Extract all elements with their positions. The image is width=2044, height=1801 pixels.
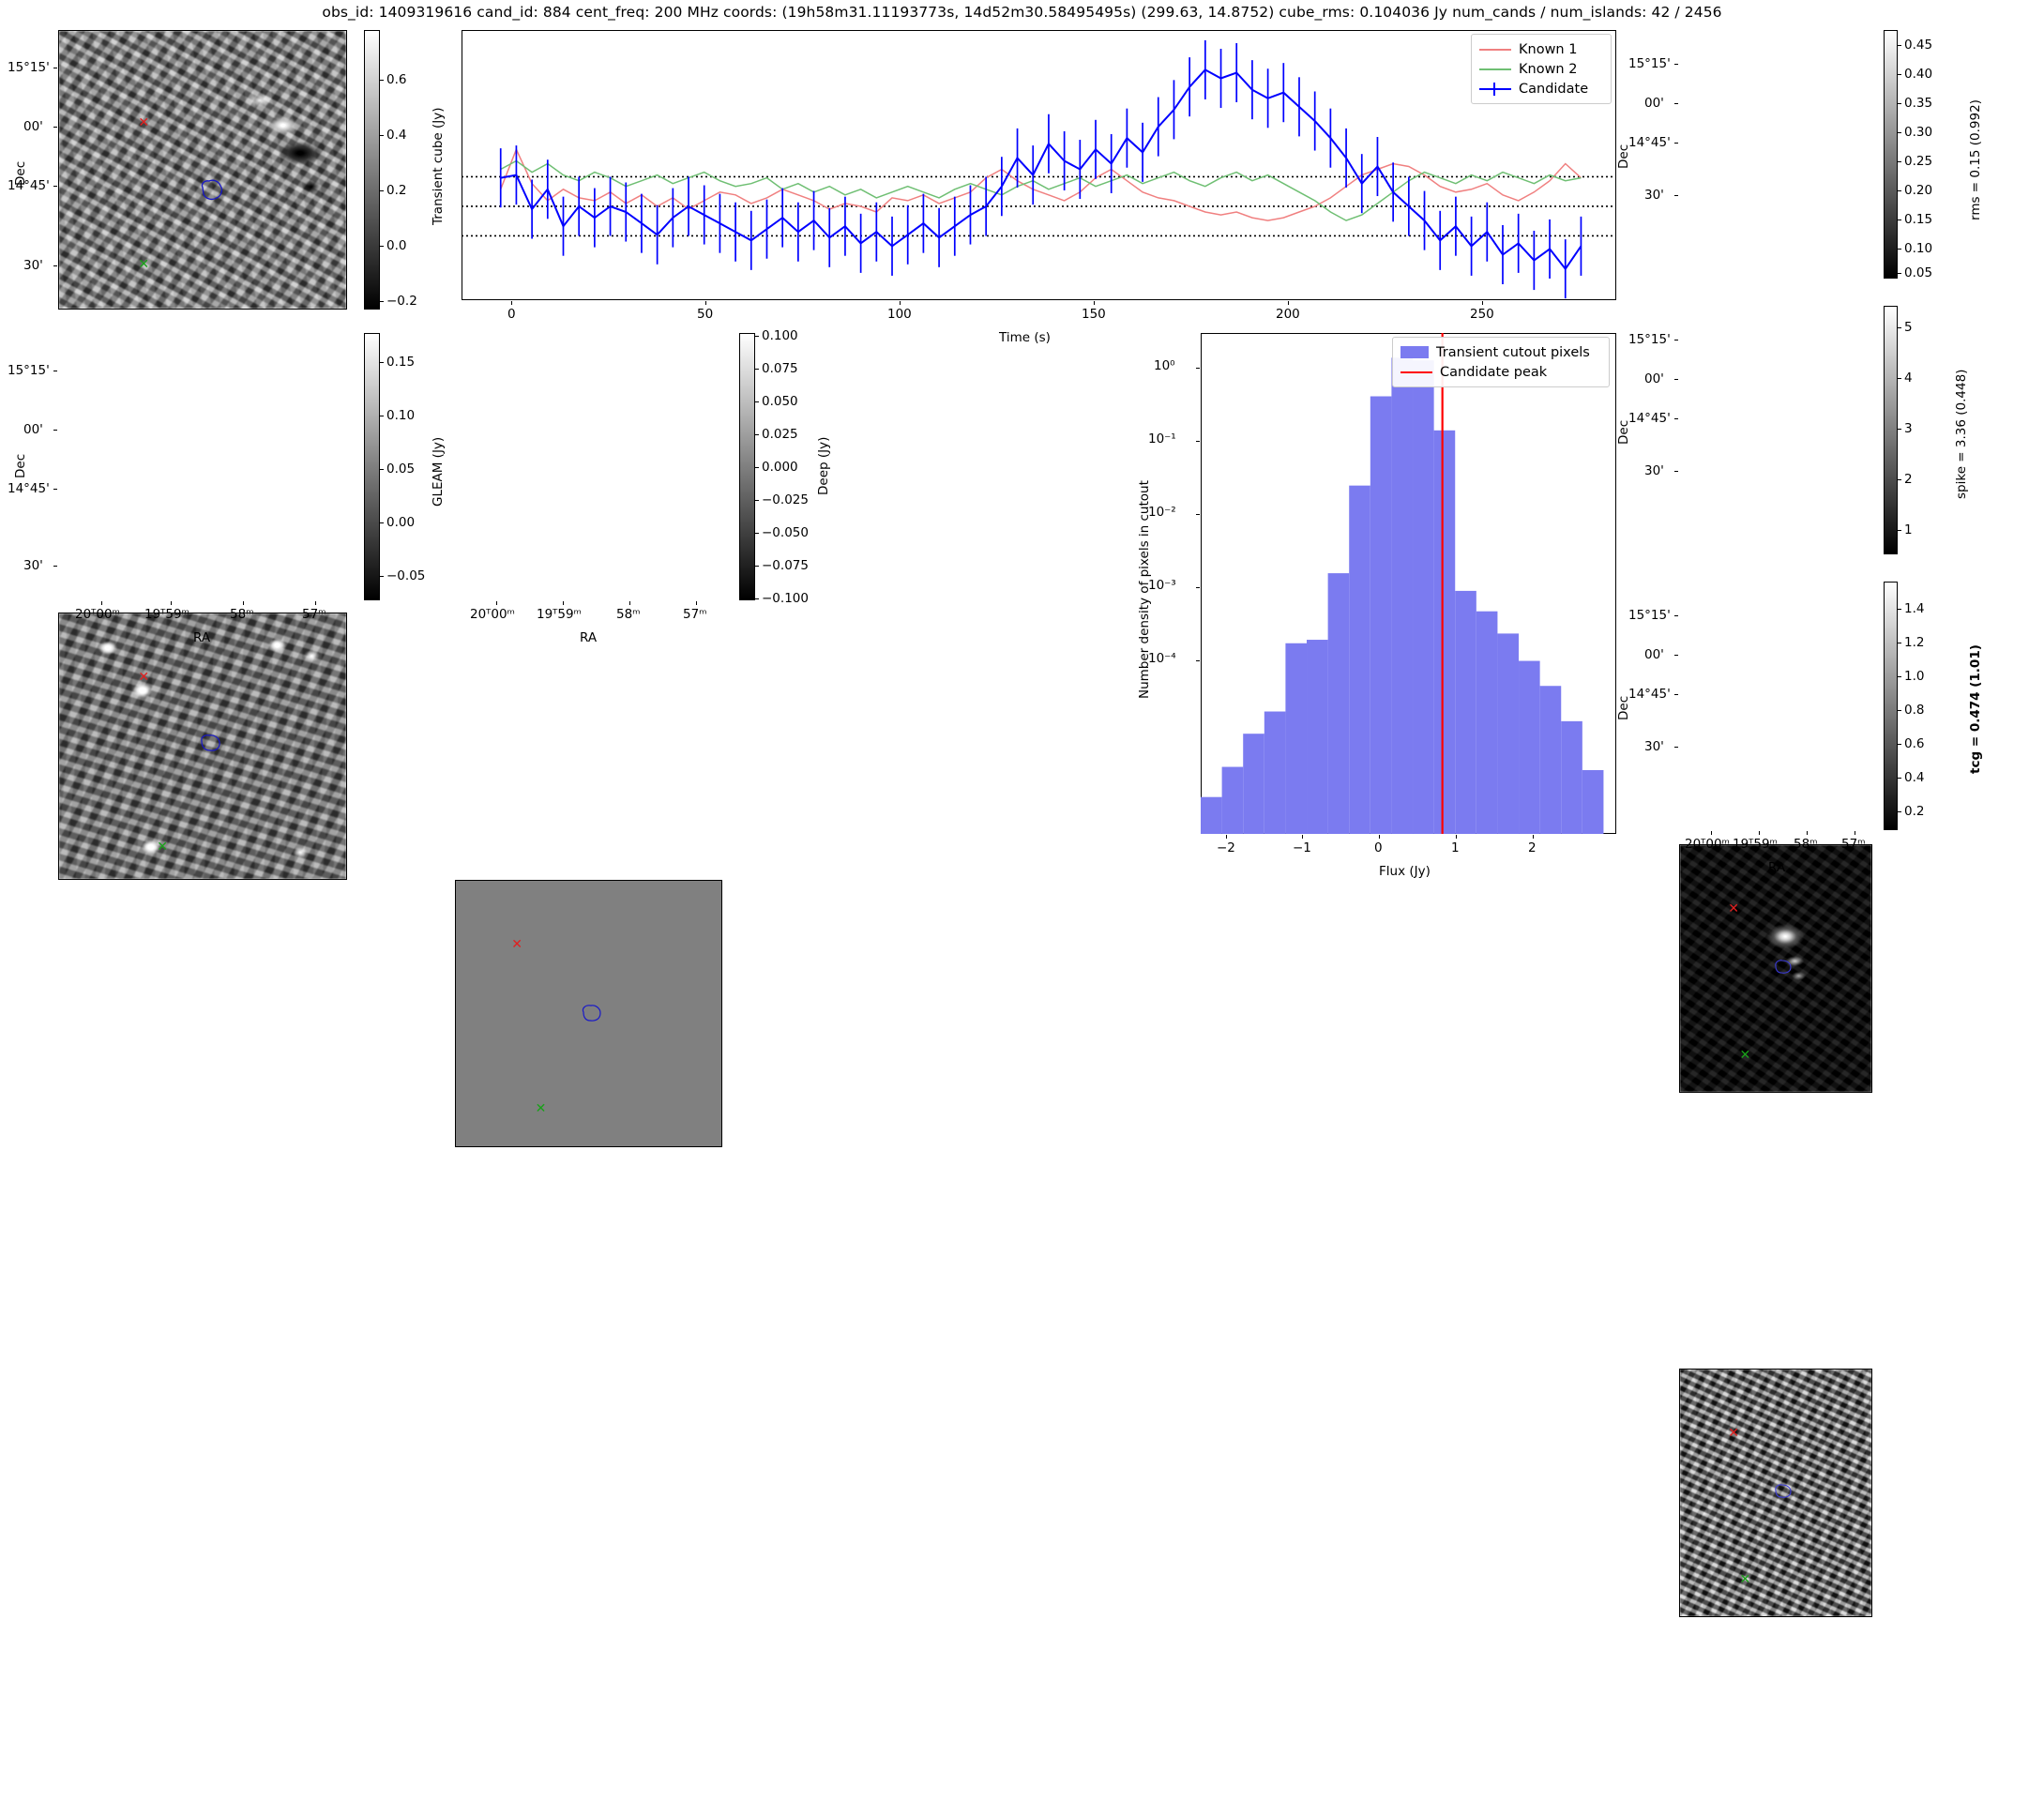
tcg-map-colorbar-title: tcg = 0.474 (1.01) [1968,644,1983,774]
gleam-colorbar[interactable]: 0.15 0.10 0.05 0.00 −0.05 [364,333,380,600]
tcube-cb-label-1: 0.4 [386,128,406,143]
rms-cb-label-1: 0.40 [1904,67,1932,82]
spike-map-ylabel: Dec [1616,420,1631,445]
gleam-xtick-1 [171,601,172,605]
rms-ytick-label-0: 15°15' [1628,56,1671,71]
deep-xtick-label-3: 57ᵐ [683,607,707,622]
candidate-island-contour [578,1003,606,1025]
deep-cb-label-0: 0.100 [762,328,798,343]
lc-xtick-label-4: 200 [1276,307,1300,322]
lightcurve-series-known-2 [501,161,1582,221]
lc-xtick-label-0: 0 [507,307,516,322]
histogram-bar [1201,797,1222,834]
hist-ytick-label-4: 10⁻⁴ [1148,651,1176,666]
histogram-plot [1201,333,1616,834]
hist-xtick-label-0: −2 [1217,840,1235,855]
deep-xtick-3 [696,601,697,605]
spike-ytick-label-2: 14°45' [1628,411,1671,426]
tcube-ytick-3 [53,265,57,266]
gleam-cb-label-1: 0.10 [386,408,415,423]
spike-ytick-1 [1674,379,1678,380]
lc-xtick-2 [900,301,901,305]
tcube-cb-label-4: −0.2 [386,294,417,309]
rms-cb-label-0: 0.45 [1904,38,1932,53]
legend-label-candidate: Candidate [1519,82,1588,97]
transient-cube-skymap [59,31,346,309]
histogram-xlabel: Flux (Jy) [1379,864,1431,879]
spike-cb-label-1: 4 [1904,371,1913,386]
hist-ytick-0 [1196,368,1200,369]
gleam-xtick-label-0: 20ᵀ00ᵐ [75,607,120,622]
hist-ytick-label-1: 10⁻¹ [1148,431,1176,446]
deep-image[interactable]: ✕ ✕ [455,880,722,1147]
gleam-xtick-label-1: 19ᵀ59ᵐ [144,607,189,622]
histogram-bar [1307,640,1328,834]
tcube-ytick-label-3: 30' [23,258,43,273]
known2-marker-green: ✕ [138,258,149,271]
lightcurve-plot [462,30,1616,300]
deep-cb-label-4: 0.000 [762,460,798,475]
gleam-cb-label-0: 0.15 [386,355,415,370]
tcg-cb-label-5: 0.4 [1904,770,1924,785]
spike-ytick-label-1: 00' [1644,371,1664,386]
lightcurve-legend[interactable]: Known 1 Known 2 Candidate [1471,34,1612,104]
legend-label-cutout-pixels: Transient cutout pixels [1436,345,1590,360]
spike-ytick-0 [1674,340,1678,341]
histogram-fill-swatch [1401,346,1429,358]
tcube-ytick-0 [53,68,57,68]
gleam-colorbar-title: GLEAM (Jy) [431,437,446,507]
hist-ytick-label-3: 10⁻³ [1148,578,1176,593]
tcg-cb-label-0: 1.4 [1904,601,1924,616]
gleam-ytick-0 [53,371,57,371]
rms-map-image[interactable]: ✕ ✕ [1679,844,1872,1093]
rms-ytick-label-3: 30' [1644,188,1664,203]
tcg-cb-label-4: 0.6 [1904,736,1924,751]
hist-xtick-0 [1226,835,1227,839]
transient-cube-image[interactable]: ✕ ✕ [58,30,347,310]
histogram-bar [1222,767,1244,834]
deep-cb-label-3: 0.025 [762,427,798,442]
deep-xtick-label-0: 20ᵀ00ᵐ [470,607,515,622]
histogram-bar [1243,734,1264,834]
tcube-ytick-1 [53,127,57,128]
tcg-xtick-label-0: 20ᵀ00ᵐ [1685,837,1730,852]
legend-label-known2: Known 2 [1519,62,1577,77]
page-title: obs_id: 1409319616 cand_id: 884 cent_fre… [0,4,2044,21]
gleam-image[interactable]: ✕ ✕ [58,613,347,880]
rms-ytick-0 [1674,64,1678,65]
hist-xtick-label-2: 0 [1374,840,1383,855]
transient-cube-ylabel: Dec [13,161,28,186]
tcg-xtick-label-1: 19ᵀ59ᵐ [1733,837,1778,852]
histogram-bar [1285,643,1307,834]
rms-map-colorbar-title: rms = 0.15 (0.992) [1968,99,1983,220]
tcg-ytick-1 [1674,655,1678,656]
tcube-cb-label-2: 0.2 [386,183,406,198]
hist-xtick-1 [1302,835,1303,839]
gleam-xtick-label-2: 58ᵐ [230,607,254,622]
tcg-map-xlabel: RA [1768,860,1785,875]
gleam-xlabel: RA [193,630,210,645]
rms-ytick-label-1: 00' [1644,96,1664,111]
lightcurve-series-candidate [501,69,1582,268]
histogram-bar [1349,486,1370,834]
hist-xtick-label-1: −1 [1293,840,1311,855]
hist-ytick-4 [1196,660,1200,661]
tcg-ytick-0 [1674,615,1678,616]
spike-map-image[interactable]: ✕ ✕ [1679,1369,1872,1617]
rms-ytick-1 [1674,103,1678,104]
candidate-island-contour [197,733,225,755]
tcube-cb-label-0: 0.6 [386,72,406,87]
gleam-ytick-3 [53,566,57,567]
deep-colorbar-title: Deep (Jy) [816,437,831,495]
lc-xtick-label-3: 150 [1082,307,1106,322]
known2-marker-green: ✕ [536,1102,547,1115]
tcg-ytick-label-3: 30' [1644,739,1664,754]
tcg-xtick-0 [1711,831,1712,835]
histogram-bar [1582,770,1604,834]
tcg-xtick-3 [1855,831,1855,835]
candidate-island-contour [197,178,229,203]
tcg-ytick-label-0: 15°15' [1628,608,1671,623]
histogram-bar [1391,357,1413,834]
deep-xlabel: RA [580,630,597,645]
tcube-ytick-label-1: 00' [23,119,43,134]
known1-marker-red: ✕ [511,938,522,951]
hist-ytick-label-0: 10⁰ [1154,358,1175,373]
legend-label-candidate-peak: Candidate peak [1440,365,1547,380]
spike-map-colorbar-title: spike = 3.36 (0.448) [1954,370,1969,499]
hist-xtick-4 [1533,835,1534,839]
tcg-ytick-2 [1674,694,1678,695]
deep-xtick-0 [496,601,497,605]
transient-cube-colorbar-title: Transient cube (Jy) [431,107,446,225]
deep-cb-label-7: −0.075 [762,558,809,573]
legend-item-known1[interactable]: Known 1 [1479,39,1603,59]
deep-cb-label-1: 0.075 [762,361,798,376]
rms-cb-label-6: 0.15 [1904,212,1932,227]
deep-cb-label-5: −0.025 [762,492,809,507]
tcg-cb-label-2: 1.0 [1904,669,1924,684]
tcg-cb-label-1: 1.2 [1904,635,1924,650]
lc-xtick-label-2: 100 [887,307,912,322]
legend-item-cutout-pixels[interactable]: Transient cutout pixels [1401,342,1601,362]
tcg-cb-label-6: 0.2 [1904,804,1924,819]
histogram-bar [1476,612,1498,834]
histogram-bar [1370,397,1392,834]
known1-marker-red: ✕ [1728,1427,1739,1440]
histogram-bar [1540,686,1562,834]
rms-cb-label-4: 0.25 [1904,154,1932,169]
tcg-ytick-label-1: 00' [1644,647,1664,662]
candidate-errorbar-swatch [1479,83,1511,96]
rms-ytick-2 [1674,143,1678,144]
legend-item-candidate[interactable]: Candidate [1479,79,1603,98]
gleam-cb-label-3: 0.00 [386,515,415,530]
known2-marker-green: ✕ [1739,1573,1750,1586]
lc-xtick-5 [1482,301,1483,305]
known2-marker-green: ✕ [157,840,168,854]
known1-marker-red: ✕ [138,671,149,684]
spike-ytick-label-3: 30' [1644,463,1664,478]
histogram-bar [1264,712,1286,834]
hist-ytick-1 [1196,441,1200,442]
tcube-ytick-2 [53,186,57,187]
rms-map-ylabel: Dec [1616,144,1631,169]
gleam-ytick-label-3: 30' [23,558,43,573]
lc-xtick-1 [705,301,706,305]
legend-item-known2[interactable]: Known 2 [1479,59,1603,79]
spike-cb-label-2: 3 [1904,421,1913,436]
deep-cb-label-8: −0.100 [762,591,809,606]
hist-ytick-2 [1196,514,1200,515]
lc-xtick-label-5: 250 [1470,307,1494,322]
rms-cb-label-3: 0.30 [1904,125,1932,140]
tcg-xtick-label-3: 57ᵐ [1841,837,1866,852]
rms-ytick-label-2: 14°45' [1628,135,1671,150]
rms-ytick-3 [1674,195,1678,196]
histogram-bar [1519,661,1540,834]
deep-colorbar[interactable]: 0.100 0.075 0.050 0.025 0.000 −0.025 −0.… [739,333,755,600]
rms-map-colorbar[interactable]: 0.45 0.40 0.35 0.30 0.25 0.20 0.15 0.10 … [1884,30,1898,279]
spike-map-colorbar[interactable]: 5 4 3 2 1 [1884,306,1898,554]
tcg-xtick-2 [1807,831,1808,835]
lightcurve-xlabel: Time (s) [999,330,1051,345]
gleam-ytick-label-0: 15°15' [8,363,50,378]
legend-label-known1: Known 1 [1519,42,1577,57]
lc-xtick-3 [1094,301,1095,305]
tcube-ytick-label-0: 15°15' [8,60,50,75]
known1-line-swatch [1479,49,1511,51]
rms-cb-label-5: 0.20 [1904,183,1932,198]
gleam-ytick-2 [53,489,57,490]
tcg-xtick-1 [1759,831,1760,835]
histogram-bar [1561,721,1582,834]
deep-xtick-2 [629,601,630,605]
spike-ytick-2 [1674,418,1678,419]
candidate-island-contour [1772,1483,1794,1500]
spike-ytick-3 [1674,471,1678,472]
spike-cb-label-4: 1 [1904,522,1913,537]
known2-marker-green: ✕ [1739,1049,1750,1062]
histogram-bar [1328,573,1350,834]
hist-xtick-label-4: 2 [1528,840,1537,855]
histogram-ylabel: Number density of pixels in cutout [1137,480,1152,699]
spike-cb-label-3: 2 [1904,472,1913,487]
tcube-cb-label-3: 0.0 [386,238,406,253]
deep-xtick-1 [563,601,564,605]
histogram-bar [1497,633,1519,834]
histogram-bar [1455,591,1476,834]
deep-cb-label-2: 0.050 [762,394,798,409]
known1-marker-red: ✕ [138,116,149,129]
gleam-ytick-label-2: 14°45' [8,481,50,496]
lc-xtick-0 [511,301,512,305]
deep-cb-label-6: −0.050 [762,525,809,540]
histogram-legend[interactable]: Transient cutout pixels Candidate peak [1392,337,1610,387]
gleam-ylabel: Dec [13,454,28,478]
tcg-ytick-3 [1674,747,1678,748]
rms-cb-label-2: 0.35 [1904,96,1932,111]
tcg-map-ylabel: Dec [1616,696,1631,720]
hist-xtick-2 [1379,835,1380,839]
spike-cb-label-0: 5 [1904,320,1913,335]
candidate-island-contour [1772,959,1794,976]
legend-item-candidate-peak[interactable]: Candidate peak [1401,362,1601,382]
spike-ytick-label-0: 15°15' [1628,332,1671,347]
tcg-ytick-label-2: 14°45' [1628,687,1671,702]
gleam-ytick-1 [53,430,57,431]
hist-ytick-label-2: 10⁻² [1148,505,1176,520]
candidate-peak-line-swatch [1401,371,1432,373]
gleam-xtick-3 [315,601,316,605]
hist-xtick-label-3: 1 [1451,840,1460,855]
deep-xtick-label-2: 58ᵐ [616,607,641,622]
gleam-ytick-label-1: 00' [23,422,43,437]
deep-xtick-label-1: 19ᵀ59ᵐ [537,607,582,622]
histogram-bar [1434,431,1456,834]
rms-cb-label-8: 0.05 [1904,265,1932,280]
transient-cube-colorbar[interactable]: 0.6 0.4 0.2 0.0 −0.2 [364,30,380,310]
lc-xtick-label-1: 50 [697,307,713,322]
known2-line-swatch [1479,68,1511,70]
histogram-bar [1413,360,1434,834]
gleam-xtick-0 [101,601,102,605]
tcg-map-colorbar[interactable]: 1.4 1.2 1.0 0.8 0.6 0.4 0.2 [1884,582,1898,830]
tcg-cb-label-3: 0.8 [1904,703,1924,718]
gleam-cb-label-2: 0.05 [386,462,415,477]
lc-xtick-4 [1288,301,1289,305]
rms-cb-label-7: 0.10 [1904,241,1932,256]
hist-ytick-3 [1196,587,1200,588]
gleam-xtick-label-3: 57ᵐ [302,607,326,622]
known1-marker-red: ✕ [1728,902,1739,916]
tcg-xtick-label-2: 58ᵐ [1794,837,1818,852]
gleam-cb-label-4: −0.05 [386,568,425,583]
gleam-xtick-2 [243,601,244,605]
hist-xtick-3 [1456,835,1457,839]
